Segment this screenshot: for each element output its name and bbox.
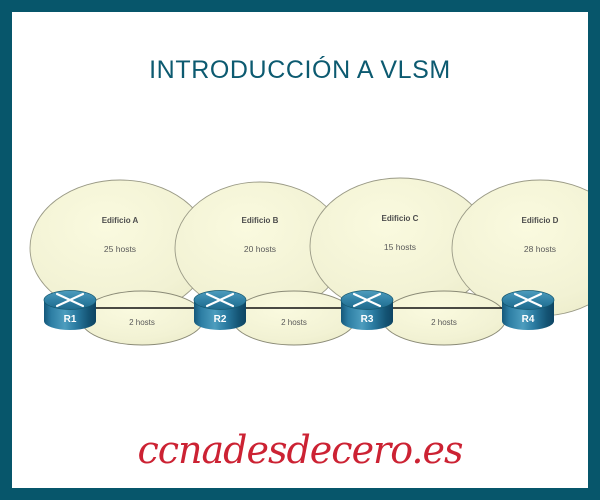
- router-r4[interactable]: R4: [502, 291, 554, 331]
- link-group: 2 hosts 2 hosts 2 hosts: [80, 291, 506, 345]
- building-hosts: 20 hosts: [244, 244, 276, 254]
- building-hosts: 28 hosts: [524, 244, 556, 254]
- router-label: R2: [214, 314, 227, 325]
- slide-frame: INTRODUCCIÓN A VLSM: [0, 0, 600, 500]
- router-label: R4: [522, 314, 535, 325]
- link-label: 2 hosts: [431, 318, 457, 327]
- router-label: R1: [64, 314, 77, 325]
- building-hosts: 25 hosts: [104, 244, 136, 254]
- building-label: Edificio B: [242, 216, 279, 225]
- router-r3[interactable]: R3: [341, 291, 393, 331]
- site-logo: ccnadesdecero.es: [12, 428, 588, 472]
- link-label: 2 hosts: [129, 318, 155, 327]
- router-label: R3: [361, 314, 374, 325]
- building-label: Edificio C: [382, 214, 419, 223]
- building-label: Edificio D: [522, 216, 559, 225]
- router-r2[interactable]: R2: [194, 291, 246, 330]
- building-hosts: 15 hosts: [384, 242, 416, 252]
- router-r1[interactable]: R1: [44, 291, 96, 331]
- link-label: 2 hosts: [281, 318, 307, 327]
- building-label: Edificio A: [102, 216, 139, 225]
- page-title: INTRODUCCIÓN A VLSM: [12, 56, 588, 85]
- link-ellipse: 2 hosts: [232, 291, 356, 345]
- link-ellipse: 2 hosts: [80, 291, 204, 345]
- link-ellipse: 2 hosts: [382, 291, 506, 345]
- network-topology-diagram: Edificio A 25 hosts Edificio B 20 hosts …: [12, 170, 588, 350]
